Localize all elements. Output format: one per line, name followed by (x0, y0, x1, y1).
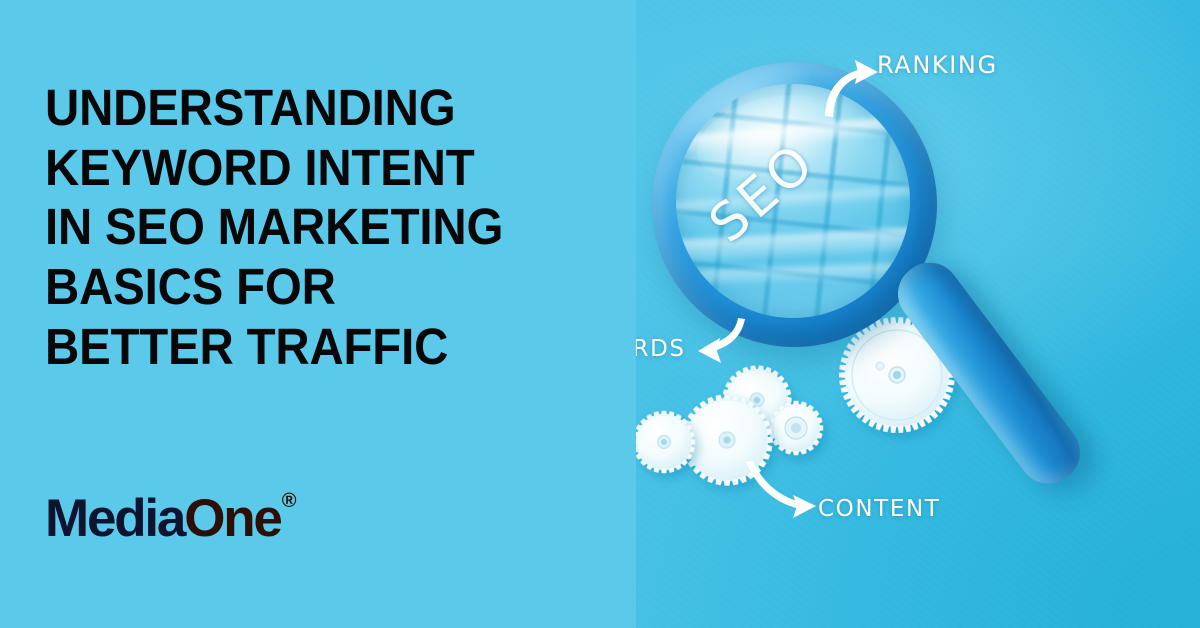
brand-logo[interactable]: MediaOne® (45, 492, 295, 545)
page-title: UNDERSTANDING KEYWORD INTENT IN SEO MARK… (45, 78, 603, 376)
annotation-label-ranking: RANKING (877, 51, 998, 79)
logo-text-one: One (184, 489, 280, 548)
social-share-banner: SEO RANKING KEYWORDS CONTENT UNDERSTANDI… (0, 0, 1200, 628)
registered-trademark-icon: ® (282, 490, 297, 512)
annotation-label-content: CONTENT (818, 496, 940, 522)
magnifier-lens: SEO (676, 84, 910, 318)
magnifier-glass: SEO (650, 60, 940, 350)
logo-text-media: Media (45, 489, 184, 548)
